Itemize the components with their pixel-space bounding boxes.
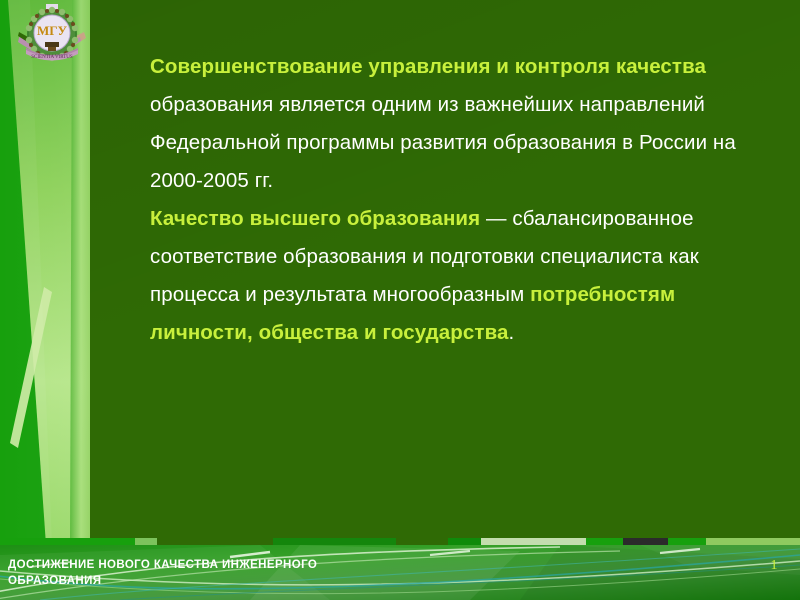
left-decoration-panel: [0, 0, 90, 545]
band-segment: [448, 538, 481, 545]
paragraph-2-end: .: [509, 321, 515, 344]
band-segment: [0, 538, 135, 545]
band-segment: [273, 538, 396, 545]
paragraph-2-accent-lead: Качество высшего образования: [150, 207, 480, 230]
paragraph-1-accent-lead: Совершенствование управления и контроля …: [150, 55, 706, 78]
band-segment: [623, 538, 668, 545]
band-segment: [706, 538, 800, 545]
band-segment: [157, 538, 273, 545]
band-segment: [668, 538, 706, 545]
university-emblem-logo: МГУ SCIENTIA VIRTUS: [18, 4, 86, 68]
paragraph-1-rest: образования является одним из важнейших …: [150, 93, 736, 192]
footer-title-line-1: ДОСТИЖЕНИЕ НОВОГО КАЧЕСТВА ИНЖЕНЕРНОГО: [8, 557, 548, 573]
page-number: 1: [762, 558, 786, 574]
paragraph-1: Совершенствование управления и контроля …: [150, 48, 770, 200]
decorative-band: [0, 538, 800, 545]
left-panel-sheen: [0, 0, 90, 545]
band-segment: [481, 538, 586, 545]
footer-title: ДОСТИЖЕНИЕ НОВОГО КАЧЕСТВА ИНЖЕНЕРНОГО О…: [8, 557, 548, 589]
footer-title-line-2: ОБРАЗОВАНИЯ: [8, 573, 548, 589]
slide-body-text: Совершенствование управления и контроля …: [150, 48, 770, 352]
paragraph-2: Качество высшего образования — сбалансир…: [150, 200, 770, 352]
band-segment: [135, 538, 157, 545]
svg-text:SCIENTIA VIRTUS: SCIENTIA VIRTUS: [31, 55, 73, 60]
svg-text:МГУ: МГУ: [37, 23, 68, 38]
band-segment: [586, 538, 623, 545]
slide-root: МГУ SCIENTIA VIRTUS Совершенствование уп…: [0, 0, 800, 600]
band-segment: [396, 538, 448, 545]
